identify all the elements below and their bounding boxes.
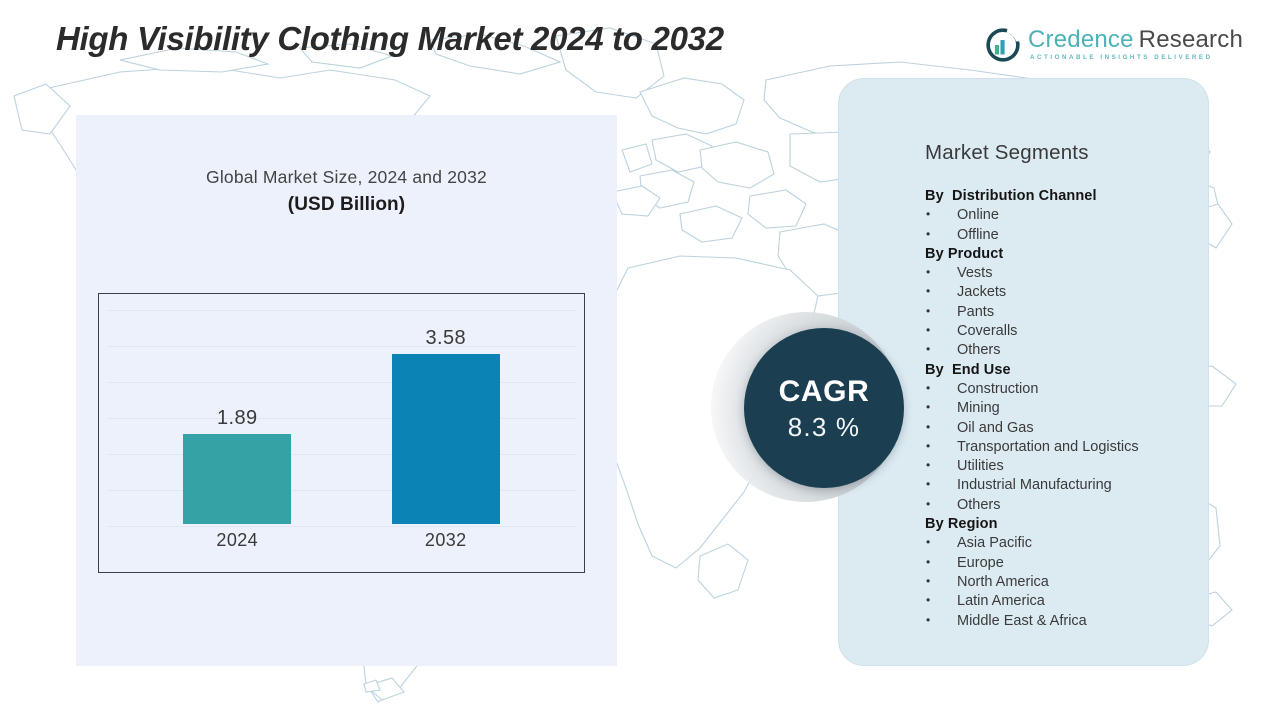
segment-list-item[interactable]: Jackets — [925, 283, 1208, 302]
segment-group-title: By Product — [925, 245, 1208, 264]
segments-title: Market Segments — [925, 141, 1208, 165]
logo-name-primary: Credence — [1028, 26, 1134, 53]
bar-chart-plot-area: 1.89 3.58 2024 2032 — [98, 293, 585, 573]
segment-group-title: By Distribution Channel — [925, 187, 1208, 206]
segment-list-item[interactable]: Construction — [925, 380, 1208, 399]
brand-logo: CredenceResearch Actionable Insights Del… — [985, 26, 1243, 63]
bar-group-2024[interactable]: 1.89 — [183, 324, 291, 524]
cagr-circle: CAGR 8.3 % — [744, 328, 904, 488]
segment-list-item[interactable]: Industrial Manufacturing — [925, 476, 1208, 495]
segment-list-item[interactable]: Others — [925, 341, 1208, 360]
bar-group-2032[interactable]: 3.58 — [392, 324, 500, 524]
cagr-value: 8.3 % — [788, 414, 861, 440]
gridline — [107, 526, 576, 527]
segments-list: By Distribution ChannelOnlineOfflineBy P… — [925, 187, 1208, 631]
segment-list-item[interactable]: Latin America — [925, 592, 1208, 611]
segment-list-item[interactable]: Others — [925, 496, 1208, 515]
page-title: High Visibility Clothing Market 2024 to … — [56, 20, 724, 58]
segment-group-title: By Region — [925, 515, 1208, 534]
bar-rect-2032[interactable] — [392, 354, 500, 524]
cagr-label: CAGR — [779, 377, 870, 407]
segment-list-item[interactable]: Coveralls — [925, 322, 1208, 341]
logo-tagline: Actionable Insights Delivered — [1030, 54, 1243, 61]
segment-list-item[interactable]: North America — [925, 573, 1208, 592]
chart-x-axis-labels: 2024 2032 — [99, 530, 584, 560]
bar-value-2024: 1.89 — [217, 407, 258, 430]
segment-list-item[interactable]: Middle East & Africa — [925, 612, 1208, 631]
segment-list-item[interactable]: Mining — [925, 399, 1208, 418]
chart-bars: 1.89 3.58 — [99, 324, 584, 524]
segment-list-item[interactable]: Oil and Gas — [925, 419, 1208, 438]
chart-heading-line2: (USD Billion) — [76, 194, 617, 216]
chart-heading: Global Market Size, 2024 and 2032 (USD B… — [76, 167, 617, 216]
segment-list-item[interactable]: Online — [925, 206, 1208, 225]
segment-group-title: By End Use — [925, 361, 1208, 380]
bar-rect-2024[interactable] — [183, 434, 291, 524]
x-axis-label-2032: 2032 — [392, 530, 500, 560]
segment-list-item[interactable]: Asia Pacific — [925, 534, 1208, 553]
credence-bar-chart-circle-icon — [985, 27, 1021, 63]
cagr-badge: CAGR 8.3 % — [711, 328, 917, 488]
logo-text-block: CredenceResearch Actionable Insights Del… — [1028, 26, 1243, 61]
logo-wordmark: CredenceResearch — [1028, 27, 1243, 52]
bar-value-2032: 3.58 — [425, 327, 466, 350]
segment-list-item[interactable]: Transportation and Logistics — [925, 438, 1208, 457]
infographic-root: High Visibility Clothing Market 2024 to … — [0, 0, 1267, 713]
logo-name-secondary: Research — [1139, 26, 1243, 53]
segment-list-item[interactable]: Utilities — [925, 457, 1208, 476]
segment-list-item[interactable]: Pants — [925, 303, 1208, 322]
segment-list-item[interactable]: Vests — [925, 264, 1208, 283]
chart-heading-line1: Global Market Size, 2024 and 2032 — [76, 167, 617, 188]
segment-list-item[interactable]: Europe — [925, 554, 1208, 573]
x-axis-label-2024: 2024 — [183, 530, 291, 560]
gridline — [107, 310, 576, 311]
segment-list-item[interactable]: Offline — [925, 226, 1208, 245]
market-size-chart-card: Global Market Size, 2024 and 2032 (USD B… — [76, 115, 617, 666]
